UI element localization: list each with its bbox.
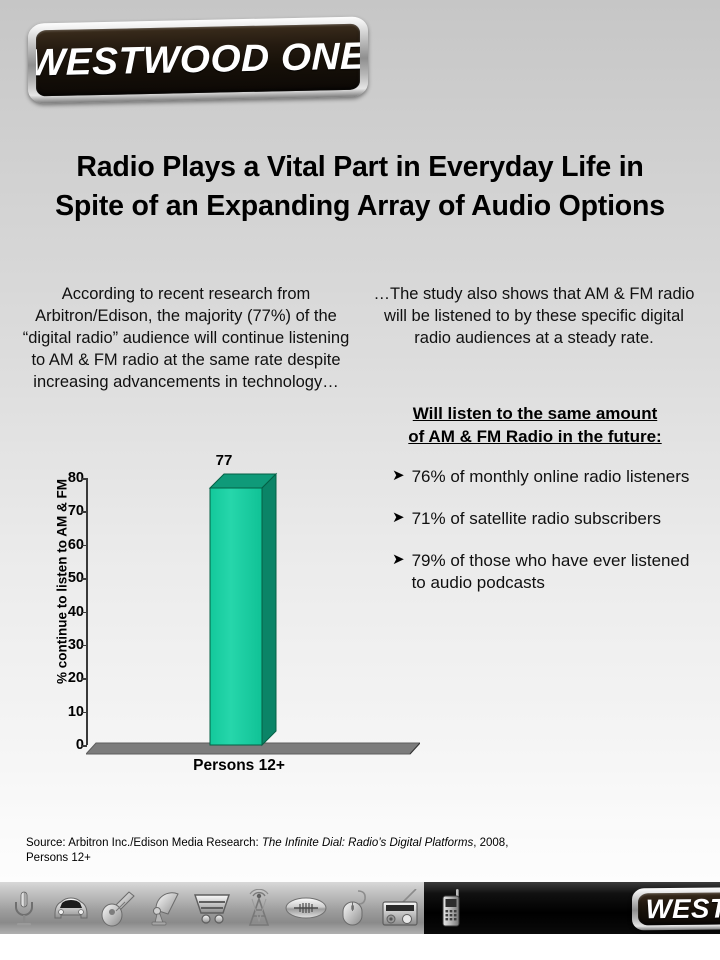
footer-icon-strip (0, 882, 424, 934)
page-title-line1: Radio Plays a Vital Part in Everyday Lif… (0, 148, 720, 187)
logo-wordmark: WESTWOOD ONE (36, 35, 360, 85)
slide-canvas: WESTWOOD ONE Radio Plays a Vital Part in… (0, 0, 720, 960)
y-axis-tick-mark (81, 511, 87, 513)
source-note: Source: Arbitron Inc./Edison Media Resea… (26, 836, 546, 865)
microphone-icon (0, 884, 47, 932)
bar-side-face (262, 474, 276, 745)
bar-value-label: 77 (198, 452, 250, 469)
guitar-icon (94, 884, 141, 932)
list-item-label: 71% of satellite radio subscribers (412, 508, 708, 530)
page-title-line2: Spite of an Expanding Array of Audio Opt… (0, 187, 720, 226)
logo-plate-face: WESTWOOD ONE (36, 24, 360, 97)
mobile-phone-icon (428, 884, 475, 932)
logo-wordmark: WESTWOOD ONE (645, 891, 720, 925)
intro-paragraph-left: According to recent research from Arbitr… (14, 284, 358, 394)
westwood-one-logo-top: WESTWOOD ONE (28, 16, 368, 103)
x-axis-category-label: Persons 12+ (144, 757, 334, 775)
y-axis-tick-mark (81, 678, 87, 680)
bar-chart: % continue to listen to AM & FM 80706050… (14, 462, 414, 772)
source-prefix: Source: Arbitron Inc./Edison Media Resea… (26, 837, 262, 849)
y-axis-tick-mark (81, 545, 87, 547)
source-title: The Infinite Dial: Radio’s Digital Platf… (262, 837, 473, 849)
car-icon (47, 884, 94, 932)
logo-plate-face: WESTWOOD ONE (638, 891, 720, 926)
bar-3d-shape (14, 462, 414, 772)
satellite-dish-icon (141, 884, 188, 932)
intro-paragraph-right: …The study also shows that AM & FM radio… (364, 284, 704, 350)
y-axis-tick-mark (81, 645, 87, 647)
list-item: ➤ 71% of satellite radio subscribers (392, 508, 708, 530)
shopping-cart-icon (188, 884, 235, 932)
bullet-list: ➤ 76% of monthly online radio listeners … (392, 466, 708, 614)
y-axis-tick-mark (81, 745, 87, 747)
subhead: Will listen to the same amount of AM & F… (370, 403, 700, 448)
bar-front-face (210, 488, 262, 745)
radio-icon (376, 884, 423, 932)
computer-mouse-icon (329, 884, 376, 932)
football-icon (282, 884, 329, 932)
westwood-one-logo-bottom: WESTWOOD ONE (632, 886, 720, 931)
list-item: ➤ 76% of monthly online radio listeners (392, 466, 708, 488)
y-axis-tick-mark (81, 578, 87, 580)
subhead-line1: Will listen to the same amount (413, 404, 658, 423)
list-item-label: 76% of monthly online radio listeners (412, 466, 708, 488)
bar-series (14, 462, 414, 772)
page-title: Radio Plays a Vital Part in Everyday Lif… (0, 148, 720, 227)
y-axis-tick-mark (81, 712, 87, 714)
y-axis-tick-mark (81, 612, 87, 614)
footer-logo-strip: WESTWOOD ONE (424, 882, 720, 934)
footer-bar: WESTWOOD ONE (0, 882, 720, 960)
subhead-line2: of AM & FM Radio in the future: (408, 427, 661, 446)
list-item-label: 79% of those who have ever listened to a… (412, 550, 708, 594)
list-item: ➤ 79% of those who have ever listened to… (392, 550, 708, 594)
broadcast-tower-icon (235, 884, 282, 932)
y-axis-tick-mark (81, 478, 87, 480)
footer-reflection (0, 934, 720, 960)
